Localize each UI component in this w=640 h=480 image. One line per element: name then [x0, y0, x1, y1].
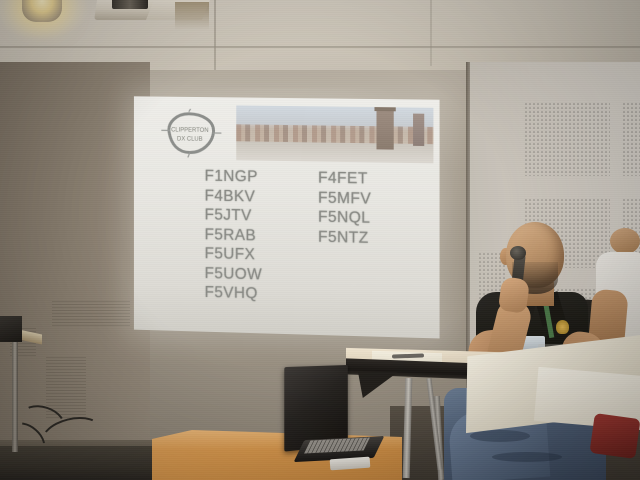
- projection-screen: CLIPPERTON DX CLUB F1NGP F4BKV F5JTV F5R…: [134, 96, 440, 338]
- callsign-item: F5VHQ: [205, 283, 262, 304]
- jeans-crease: [492, 452, 562, 462]
- callsign-item: F5JTV: [205, 205, 262, 226]
- callsign-item: F4FET: [318, 169, 371, 190]
- callsign-item: F1NGP: [205, 167, 262, 187]
- callsign-column-right: F4FET F5MFV F5NQL F5NTZ: [318, 169, 371, 307]
- left-wall-acoustic-panel: [52, 300, 130, 326]
- red-bag: [589, 413, 640, 459]
- callsign-item: F4BKV: [205, 186, 262, 206]
- projector-lens: [112, 0, 148, 9]
- cable-bundle: [8, 400, 148, 470]
- right-wall-perforated-panel: [622, 102, 640, 176]
- jeans-crease: [470, 430, 530, 442]
- callsign-list: F1NGP F4BKV F5JTV F5RAB F5UFX F5UOW F5VH…: [134, 166, 440, 309]
- callsign-item: F5NQL: [318, 208, 371, 229]
- callsign-column-left: F1NGP F4BKV F5JTV F5RAB F5UFX F5UOW F5VH…: [205, 167, 262, 304]
- panoramic-cityscape-photo: [236, 105, 433, 163]
- spotlight-icon: [22, 0, 62, 22]
- ceiling-tile-seam: [430, 0, 432, 66]
- ceiling-tile-seam: [214, 0, 216, 74]
- photo-building: [413, 114, 424, 146]
- callsign-item: F5RAB: [205, 225, 262, 246]
- photo-foreground: [236, 142, 433, 164]
- logo-line-2: DX CLUB: [177, 136, 203, 142]
- clipperton-dx-club-logo: CLIPPERTON DX CLUB: [159, 108, 222, 159]
- logo-line-1: CLIPPERTON: [171, 127, 208, 134]
- ceiling-tile-seam: [0, 46, 640, 48]
- presentation-room-photo: CLIPPERTON DX CLUB F1NGP F4BKV F5JTV F5R…: [0, 0, 640, 480]
- second-attendee-head: [610, 228, 640, 254]
- microphone-head: [510, 246, 526, 260]
- cart-device: [0, 316, 22, 342]
- shirt-emblem: [556, 320, 569, 334]
- callsign-item: F5UFX: [205, 244, 262, 265]
- projector-shadow: [175, 2, 209, 30]
- photo-tower: [376, 109, 393, 150]
- callsign-item: F5NTZ: [318, 227, 371, 248]
- callsign-item: F5MFV: [318, 188, 371, 209]
- callsign-item: F5UOW: [205, 264, 262, 285]
- right-wall-perforated-panel: [524, 102, 610, 176]
